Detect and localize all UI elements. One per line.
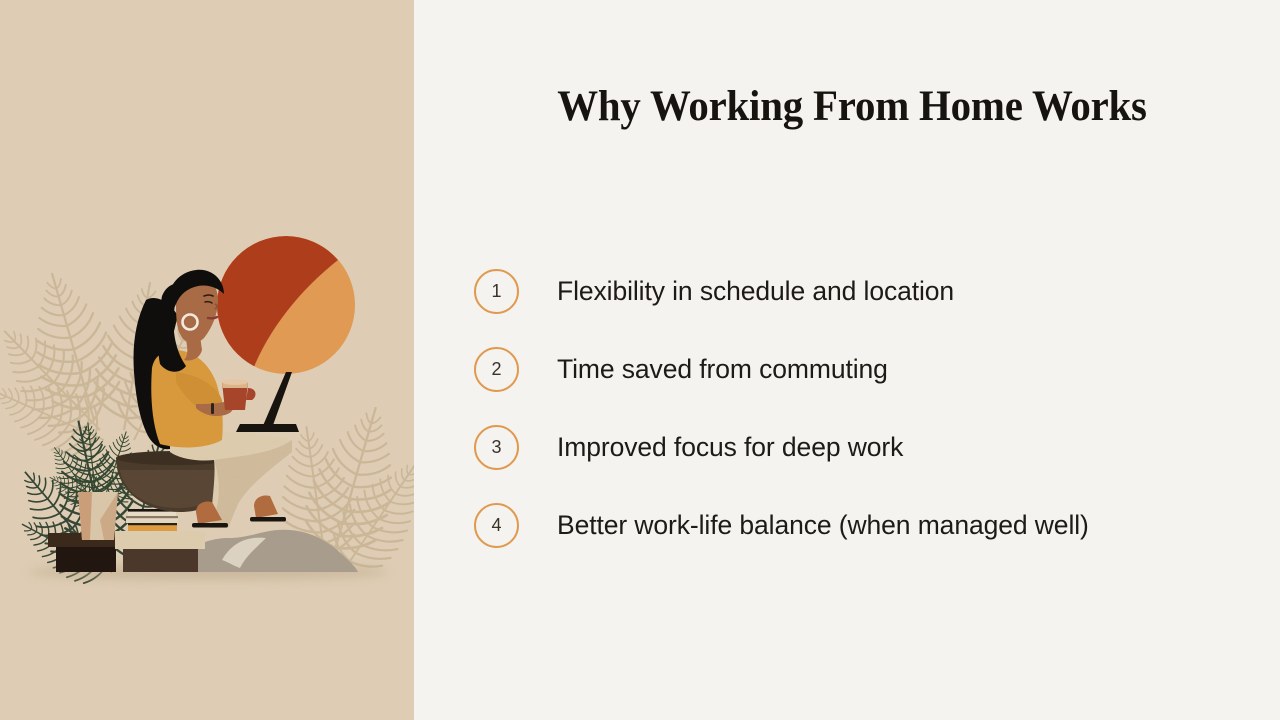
benefits-list: 1 Flexibility in schedule and location 2… (474, 252, 1274, 564)
list-item-label: Flexibility in schedule and location (557, 276, 954, 307)
page-title: Why Working From Home Works (491, 82, 1213, 131)
panel-background (0, 0, 414, 720)
list-item-number-badge: 3 (474, 425, 519, 470)
list-item[interactable]: 4 Better work-life balance (when managed… (474, 486, 1274, 564)
list-item[interactable]: 2 Time saved from commuting (474, 330, 1274, 408)
list-item-number-badge: 2 (474, 347, 519, 392)
list-item[interactable]: 3 Improved focus for deep work (474, 408, 1274, 486)
slide-canvas: Why Working From Home Works 1 Flexibilit… (0, 0, 1280, 720)
wooden-plinth (48, 531, 205, 572)
stacked-books (126, 509, 178, 531)
list-item-number-badge: 1 (474, 269, 519, 314)
list-item[interactable]: 1 Flexibility in schedule and location (474, 252, 1274, 330)
woman-working-from-home-illustration (0, 0, 414, 720)
list-item-number-badge: 4 (474, 503, 519, 548)
content-panel: Why Working From Home Works 1 Flexibilit… (414, 0, 1280, 720)
list-item-label: Improved focus for deep work (557, 432, 903, 463)
list-item-label: Better work-life balance (when managed w… (557, 510, 1089, 541)
background-circle-two-tone (217, 236, 355, 374)
illustration-panel (0, 0, 414, 720)
wrist-bracelet (211, 403, 214, 414)
lips (208, 317, 217, 318)
list-item-label: Time saved from commuting (557, 354, 888, 385)
